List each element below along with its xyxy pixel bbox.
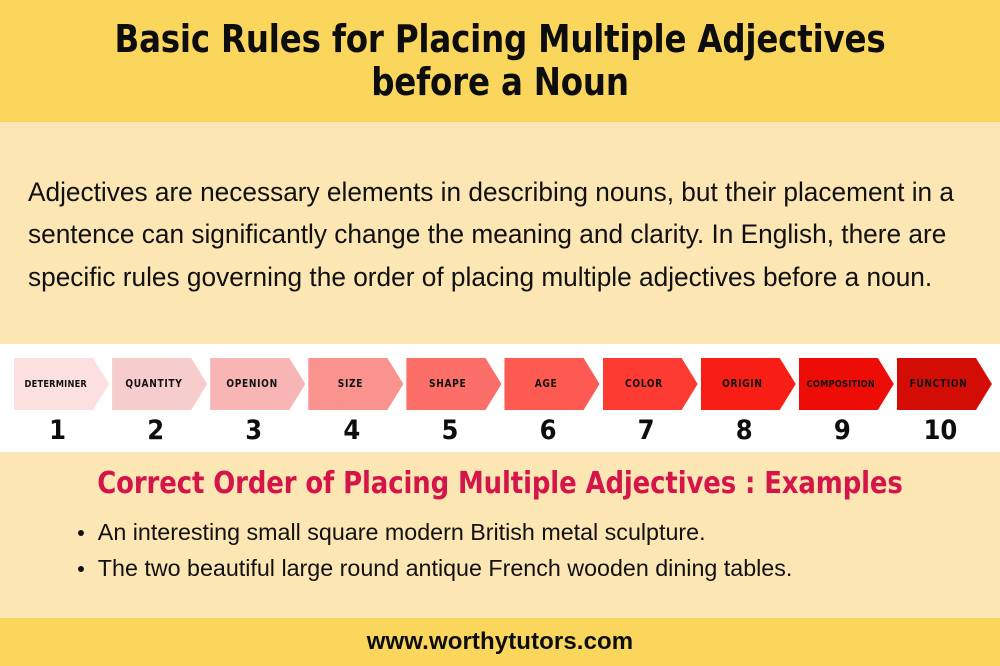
order-step-number-text: 8 (736, 415, 753, 446)
order-step-label: DETERMINER (25, 379, 99, 390)
order-step-number: 2 (112, 412, 207, 448)
infographic-poster: Basic Rules for Placing Multiple Adjecti… (0, 0, 1000, 666)
example-list-item: An interesting small square modern Briti… (78, 515, 971, 551)
order-step-number-text: 2 (147, 415, 164, 446)
order-step-size: SIZE (308, 358, 403, 410)
number-row: 12345678910 (14, 412, 992, 448)
order-step-number: 7 (603, 412, 698, 448)
intro-paragraph: Adjectives are necessary elements in des… (28, 171, 961, 300)
footer-banner: www.worthytutors.com (0, 618, 1000, 666)
order-step-number-text: 6 (540, 415, 557, 446)
order-step-label: SHAPE (429, 378, 478, 390)
order-step-number-text: 10 (923, 415, 957, 446)
order-step-label: ORIGIN (722, 378, 774, 390)
order-step-number: 6 (504, 412, 599, 448)
order-step-number-text: 7 (638, 415, 655, 446)
order-step-label: COLOR (625, 378, 674, 390)
order-step-number-text: 4 (343, 415, 360, 446)
order-step-number-text: 1 (49, 415, 66, 446)
order-step-number: 1 (14, 412, 109, 448)
order-step-label: COMPOSITION (806, 379, 886, 390)
examples-list: An interesting small square modern Briti… (20, 515, 980, 586)
adjective-order-chart: DETERMINERQUANTITYOPENIONSIZESHAPEAGECOL… (0, 344, 1000, 452)
order-step-number: 8 (701, 412, 796, 448)
order-step-number-text: 5 (441, 415, 458, 446)
header-banner: Basic Rules for Placing Multiple Adjecti… (0, 0, 1000, 122)
order-step-composition: COMPOSITION (799, 358, 894, 410)
order-step-openion: OPENION (210, 358, 305, 410)
order-step-color: COLOR (603, 358, 698, 410)
order-step-number: 3 (210, 412, 305, 448)
order-step-label: QUANTITY (125, 378, 194, 390)
order-step-number: 10 (897, 412, 992, 448)
arrow-row: DETERMINERQUANTITYOPENIONSIZESHAPEAGECOL… (14, 358, 992, 410)
order-step-number: 4 (308, 412, 403, 448)
website-url: www.worthytutors.com (367, 628, 633, 656)
order-step-function: FUNCTION (897, 358, 992, 410)
examples-heading: Correct Order of Placing Multiple Adject… (39, 466, 961, 501)
order-step-label: FUNCTION (910, 378, 980, 390)
examples-section: Correct Order of Placing Multiple Adject… (0, 452, 1000, 618)
order-step-label: SIZE (337, 378, 374, 390)
order-step-quantity: QUANTITY (112, 358, 207, 410)
order-step-origin: ORIGIN (701, 358, 796, 410)
page-title: Basic Rules for Placing Multiple Adjecti… (82, 18, 918, 103)
intro-section: Adjectives are necessary elements in des… (0, 122, 1000, 344)
order-step-number: 5 (406, 412, 501, 448)
order-step-number: 9 (799, 412, 894, 448)
order-step-number-text: 9 (834, 415, 851, 446)
example-list-item: The two beautiful large round antique Fr… (78, 551, 971, 587)
order-step-determiner: DETERMINER (14, 358, 109, 410)
order-step-shape: SHAPE (406, 358, 501, 410)
order-step-number-text: 3 (245, 415, 262, 446)
order-step-age: AGE (504, 358, 599, 410)
order-step-label: OPENION (226, 378, 289, 390)
order-step-label: AGE (535, 378, 569, 390)
